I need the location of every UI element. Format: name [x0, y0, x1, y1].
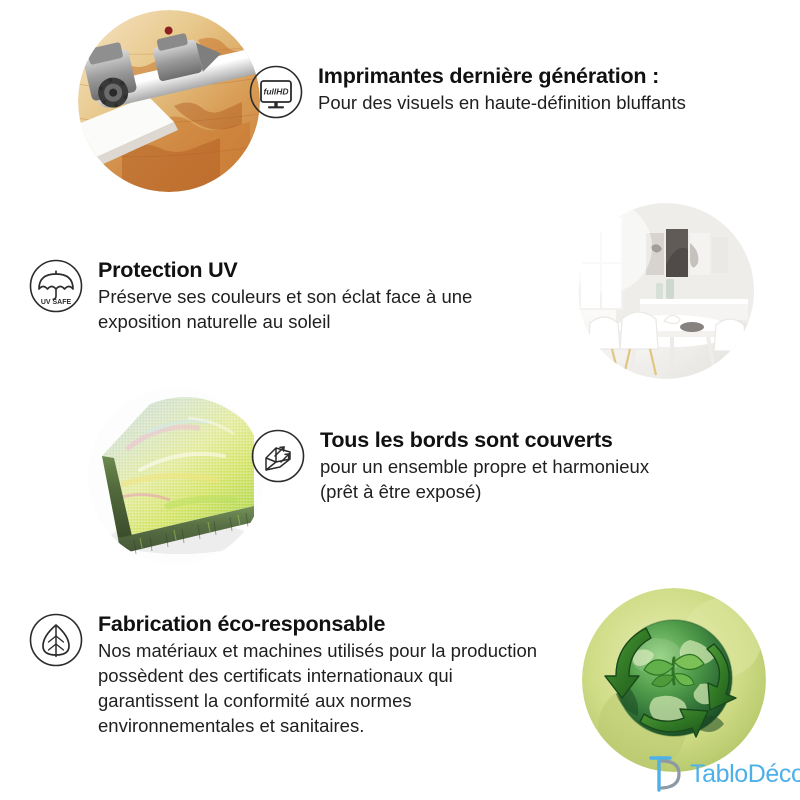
feature-title: Fabrication éco-responsable — [98, 612, 588, 637]
fullhd-monitor-icon: fullHD — [248, 64, 304, 120]
fullhd-label: fullHD — [263, 87, 288, 97]
feature-title: Imprimantes dernière génération : — [318, 64, 748, 89]
feature-body: pour un ensemble propre et harmonieux (p… — [320, 455, 730, 505]
body-line: possèdent des certificats internationaux… — [98, 664, 588, 689]
feature-uv-protection: UV SAFE Protection UV Préserve ses coule… — [28, 258, 548, 335]
feature-printers: fullHD Imprimantes dernière génération :… — [248, 64, 748, 120]
logo-wordmark: TabloDéco — [690, 760, 800, 789]
body-line: pour un ensemble propre et harmonieux — [320, 455, 730, 480]
feature-title: Tous les bords sont couverts — [320, 428, 730, 453]
eco-globe-photo — [582, 588, 766, 772]
tablodeco-logo[interactable]: TabloDéco ™ .fr — [646, 752, 794, 796]
body-line: (prêt à être exposé) — [320, 480, 730, 505]
infographic-page: fullHD Imprimantes dernière génération :… — [0, 0, 800, 800]
canvas-corner-photo — [88, 388, 264, 564]
feature-body: Préserve ses couleurs et son éclat face … — [98, 285, 548, 335]
body-line: Pour des visuels en haute-définition blu… — [318, 91, 748, 116]
feature-covered-edges: Tous les bords sont couverts pour un ens… — [250, 428, 730, 505]
tablodeco-td-monogram — [646, 753, 688, 795]
body-line: Préserve ses couleurs et son éclat face … — [98, 285, 548, 310]
body-line: Nos matériaux et machines utilisés pour … — [98, 639, 588, 664]
feature-body: Pour des visuels en haute-définition blu… — [318, 91, 748, 116]
body-line: garantissent la conformité aux normes — [98, 689, 588, 714]
leaf-icon — [28, 612, 84, 668]
printer-roller-photo — [78, 10, 260, 192]
uv-safe-label: UV SAFE — [41, 299, 72, 306]
uv-safe-umbrella-icon: UV SAFE — [28, 258, 84, 314]
body-line: environnementales et sanitaires. — [98, 714, 588, 739]
wrapped-canvas-edge-icon — [250, 428, 306, 484]
feature-eco-manufacturing: Fabrication éco-responsable Nos matériau… — [28, 612, 588, 738]
feature-title: Protection UV — [98, 258, 548, 283]
body-line: exposition naturelle au soleil — [98, 310, 548, 335]
feature-body: Nos matériaux et machines utilisés pour … — [98, 639, 588, 738]
interior-wall-art-photo — [578, 203, 754, 379]
